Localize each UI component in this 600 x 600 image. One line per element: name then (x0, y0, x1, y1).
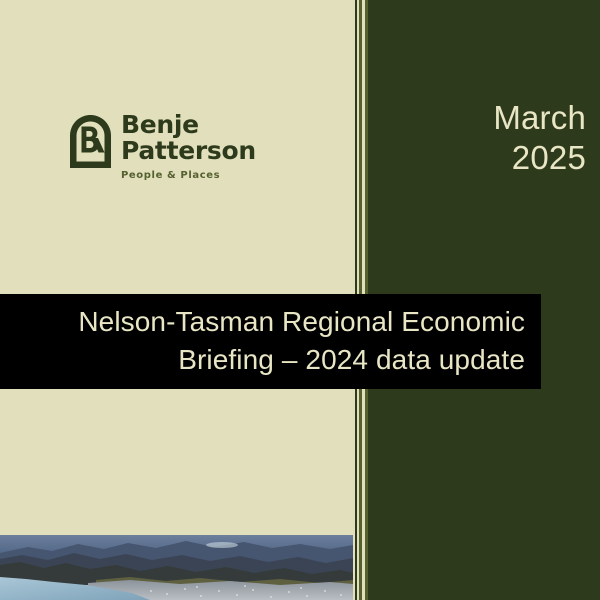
title-line1: Nelson-Tasman Regional Economic (20, 303, 525, 341)
logo-name-line1: Benje (121, 112, 256, 138)
date-month: March (493, 98, 586, 138)
aerial-coastal-city-photo (0, 535, 353, 600)
photo-artwork (0, 535, 353, 600)
logo-name-line2: Patterson (121, 138, 256, 164)
logo-wordmark: Benje Patterson People & Places (121, 112, 256, 181)
slide-canvas: Benje Patterson People & Places March 20… (0, 0, 600, 600)
brand-logo: Benje Patterson People & Places (70, 112, 256, 181)
date-year: 2025 (493, 138, 586, 178)
title-banner: Nelson-Tasman Regional Economic Briefing… (0, 294, 541, 389)
logo-tagline: People & Places (121, 171, 256, 181)
arch-window-logo-icon (70, 115, 111, 168)
date-block: March 2025 (493, 98, 586, 179)
cloud-wisp (206, 542, 238, 548)
title-line2: Briefing – 2024 data update (20, 341, 525, 379)
